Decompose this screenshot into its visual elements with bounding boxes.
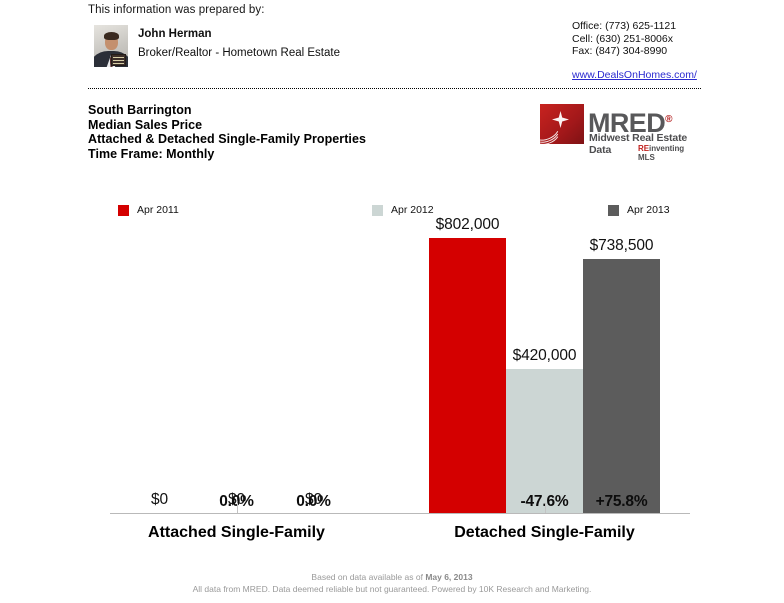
agent-block: John Herman Broker/Realtor - Hometown Re…: [94, 25, 340, 67]
bar-value-label-1-2: $738,500: [561, 237, 682, 255]
chart-legend: Apr 2011 Apr 2012 Apr 2013: [110, 204, 670, 218]
mred-star-icon: [540, 104, 584, 144]
legend-label-1: Apr 2012: [391, 204, 434, 216]
footer-disclaimer: All data from MRED. Data deemed reliable…: [0, 584, 784, 596]
legend-label-0: Apr 2011: [137, 204, 179, 216]
report-page: This information was prepared by: John H…: [0, 0, 784, 603]
footer: Based on data available as of May 6, 201…: [0, 572, 784, 595]
agent-photo: [94, 25, 128, 67]
bar-pct-label-0-2: 0.0%: [253, 493, 374, 511]
contact-block: Office: (773) 625-1121 Cell: (630) 251-8…: [572, 20, 676, 58]
legend-label-2: Apr 2013: [627, 204, 670, 216]
footer-date-value: May 6, 2013: [425, 572, 472, 582]
title-line-region: South Barrington: [88, 103, 366, 118]
website-link[interactable]: www.DealsOnHomes.com/: [572, 69, 697, 81]
chart-axis-line: [110, 513, 690, 514]
footer-date-prefix: Based on data available as of: [311, 572, 425, 582]
title-line-timeframe: Time Frame: Monthly: [88, 147, 366, 162]
axis-tick-1: [545, 503, 546, 513]
fax-number: Fax: (847) 304-8990: [572, 45, 676, 58]
legend-swatch-2: [608, 205, 619, 216]
bar-value-label-1-0: $802,000: [407, 216, 528, 234]
header-divider: [88, 88, 701, 89]
legend-item-0: Apr 2011: [118, 204, 179, 216]
registered-trademark-icon: ®: [665, 114, 672, 125]
legend-swatch-0: [118, 205, 129, 216]
category-label-0: Attached Single-Family: [81, 524, 392, 542]
legend-swatch-1: [372, 205, 383, 216]
mred-tagline: REinventing MLS: [638, 144, 700, 162]
agent-name: John Herman: [138, 27, 340, 42]
mred-logo: MRED® Midwest Real Estate Data REinventi…: [540, 104, 700, 152]
bar-pct-label-1-2: +75.8%: [561, 493, 682, 511]
category-label-1: Detached Single-Family: [389, 524, 700, 542]
agent-role: Broker/Realtor - Hometown Real Estate: [138, 45, 340, 62]
page-title: South Barrington Median Sales Price Atta…: [88, 103, 366, 161]
bar-1-2: [583, 259, 660, 513]
title-line-metric: Median Sales Price: [88, 118, 366, 133]
mred-tagline-accent: RE: [638, 144, 649, 153]
legend-item-2: Apr 2013: [608, 204, 670, 216]
office-phone: Office: (773) 625-1121: [572, 20, 676, 33]
cell-phone: Cell: (630) 251-8006x: [572, 33, 676, 46]
bar-1-0: [429, 238, 506, 513]
prepared-by-label: This information was prepared by:: [88, 4, 265, 16]
title-line-property-type: Attached & Detached Single-Family Proper…: [88, 132, 366, 147]
bar-1-1: [506, 369, 583, 513]
footer-data-date: Based on data available as of May 6, 201…: [0, 572, 784, 584]
axis-tick-0: [237, 503, 238, 513]
legend-item-1: Apr 2012: [372, 204, 434, 216]
